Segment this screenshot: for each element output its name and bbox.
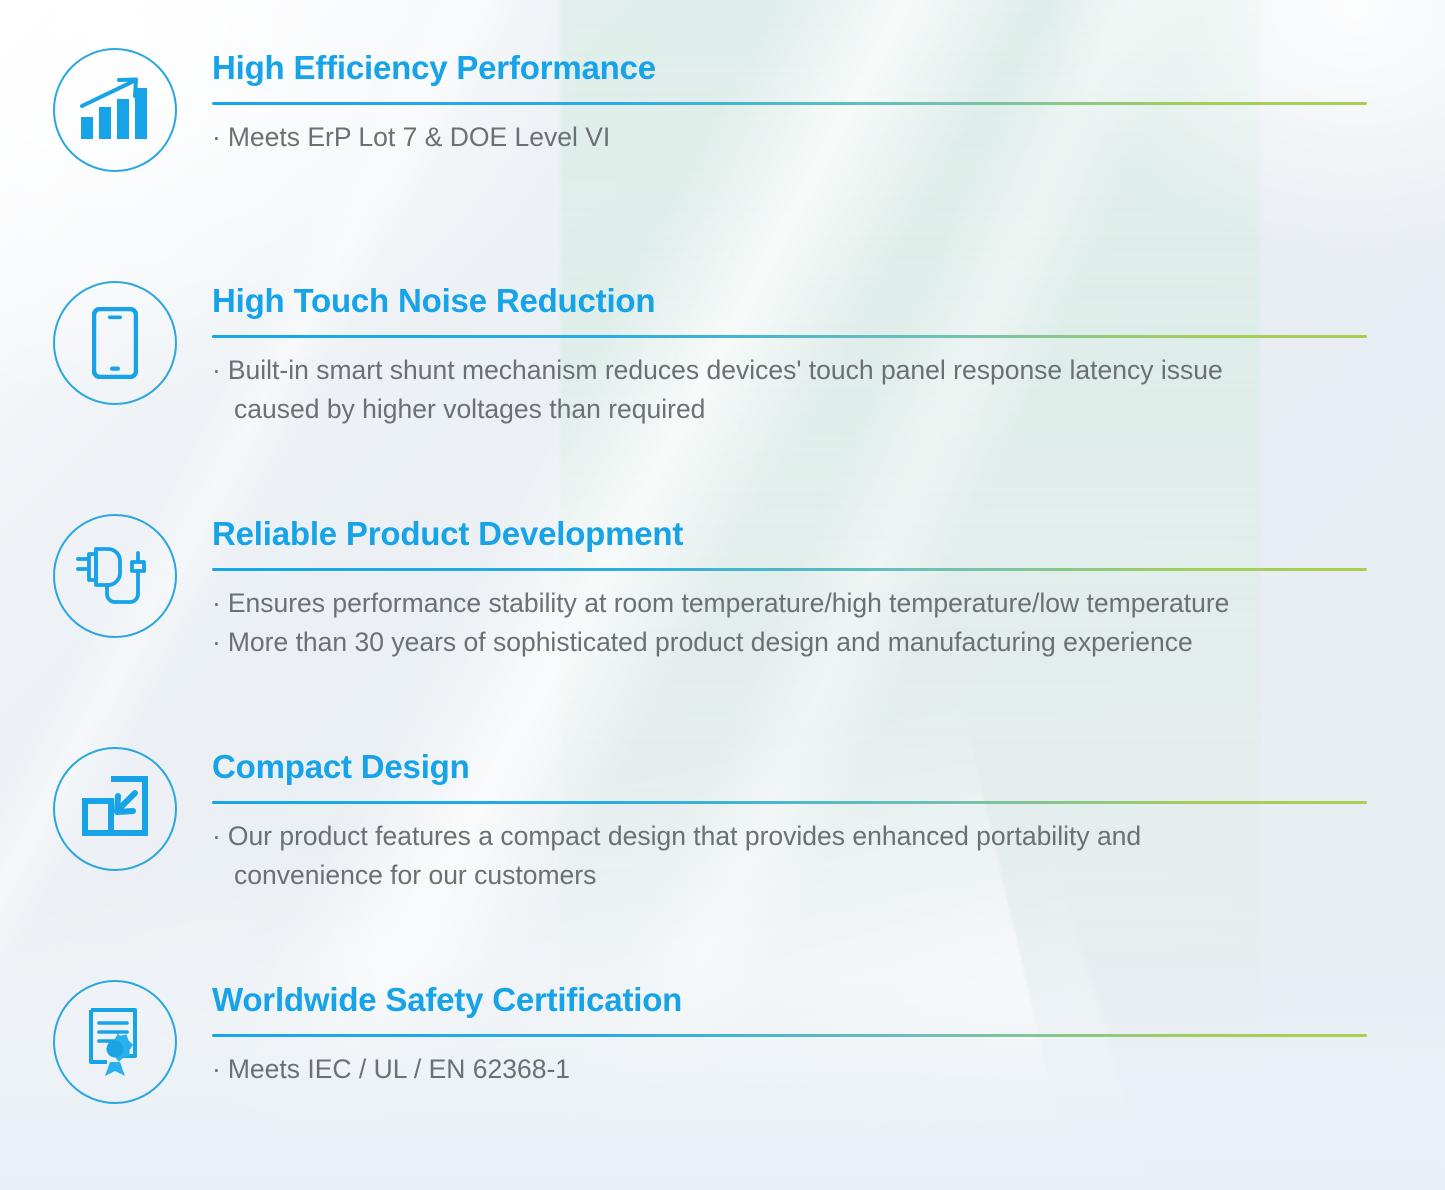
feature-bullets: ·Meets IEC / UL / EN 62368-1	[212, 1050, 1367, 1089]
feature-icon-wrapper	[53, 48, 177, 172]
feature-item: High Touch Noise Reduction ·Built-in sma…	[0, 281, 1445, 429]
bullet-continuation: caused by higher voltages than required	[212, 390, 1367, 429]
bullet-marker: ·	[212, 821, 221, 851]
feature-divider	[212, 1034, 1367, 1037]
compact-resize-icon	[53, 747, 177, 871]
feature-icon-wrapper	[53, 514, 177, 638]
feature-bullets: ·Ensures performance stability at room t…	[212, 584, 1367, 662]
bullet-item: ·Built-in smart shunt mechanism reduces …	[212, 351, 1367, 390]
bullet-text: Our product features a compact design th…	[228, 821, 1141, 851]
feature-icon-wrapper	[53, 281, 177, 405]
feature-divider	[212, 568, 1367, 571]
smartphone-icon	[53, 281, 177, 405]
bullet-item: ·More than 30 years of sophisticated pro…	[212, 623, 1367, 662]
feature-divider	[212, 801, 1367, 804]
feature-text-column: High Touch Noise Reduction ·Built-in sma…	[212, 281, 1367, 429]
feature-bullets: ·Meets ErP Lot 7 & DOE Level VI	[212, 118, 1367, 157]
feature-title: Reliable Product Development	[212, 514, 1367, 554]
feature-divider	[212, 335, 1367, 338]
bullet-item: ·Our product features a compact design t…	[212, 817, 1367, 856]
feature-icon-wrapper	[53, 747, 177, 871]
feature-text-column: Reliable Product Development ·Ensures pe…	[212, 514, 1367, 662]
feature-icon-wrapper	[53, 980, 177, 1104]
feature-item: Compact Design ·Our product features a c…	[0, 747, 1445, 895]
bullet-marker: ·	[212, 1054, 221, 1084]
feature-text-column: Worldwide Safety Certification ·Meets IE…	[212, 980, 1367, 1089]
bullet-text: More than 30 years of sophisticated prod…	[228, 627, 1193, 657]
bullet-text: Ensures performance stability at room te…	[228, 588, 1230, 618]
bullet-marker: ·	[212, 627, 221, 657]
bullet-item: ·Meets ErP Lot 7 & DOE Level VI	[212, 118, 1367, 157]
feature-bullets: ·Built-in smart shunt mechanism reduces …	[212, 351, 1367, 429]
feature-item: Worldwide Safety Certification ·Meets IE…	[0, 980, 1445, 1104]
bullet-continuation: convenience for our customers	[212, 856, 1367, 895]
feature-title: High Touch Noise Reduction	[212, 281, 1367, 321]
bullet-text: Meets IEC / UL / EN 62368-1	[228, 1054, 570, 1084]
certificate-award-icon	[53, 980, 177, 1104]
power-adapter-icon	[53, 514, 177, 638]
feature-bullets: ·Our product features a compact design t…	[212, 817, 1367, 895]
feature-divider	[212, 102, 1367, 105]
bullet-text: Built-in smart shunt mechanism reduces d…	[228, 355, 1223, 385]
feature-title: Compact Design	[212, 747, 1367, 787]
feature-item: Reliable Product Development ·Ensures pe…	[0, 514, 1445, 662]
feature-text-column: Compact Design ·Our product features a c…	[212, 747, 1367, 895]
bullet-marker: ·	[212, 122, 221, 152]
feature-text-column: High Efficiency Performance ·Meets ErP L…	[212, 48, 1367, 157]
feature-item: High Efficiency Performance ·Meets ErP L…	[0, 48, 1445, 172]
bullet-marker: ·	[212, 588, 221, 618]
bullet-item: ·Meets IEC / UL / EN 62368-1	[212, 1050, 1367, 1089]
bullet-text: Meets ErP Lot 7 & DOE Level VI	[228, 122, 610, 152]
feature-title: Worldwide Safety Certification	[212, 980, 1367, 1020]
bullet-marker: ·	[212, 355, 221, 385]
feature-title: High Efficiency Performance	[212, 48, 1367, 88]
feature-list: High Efficiency Performance ·Meets ErP L…	[0, 0, 1445, 1190]
bar-chart-growth-icon	[53, 48, 177, 172]
bullet-item: ·Ensures performance stability at room t…	[212, 584, 1367, 623]
